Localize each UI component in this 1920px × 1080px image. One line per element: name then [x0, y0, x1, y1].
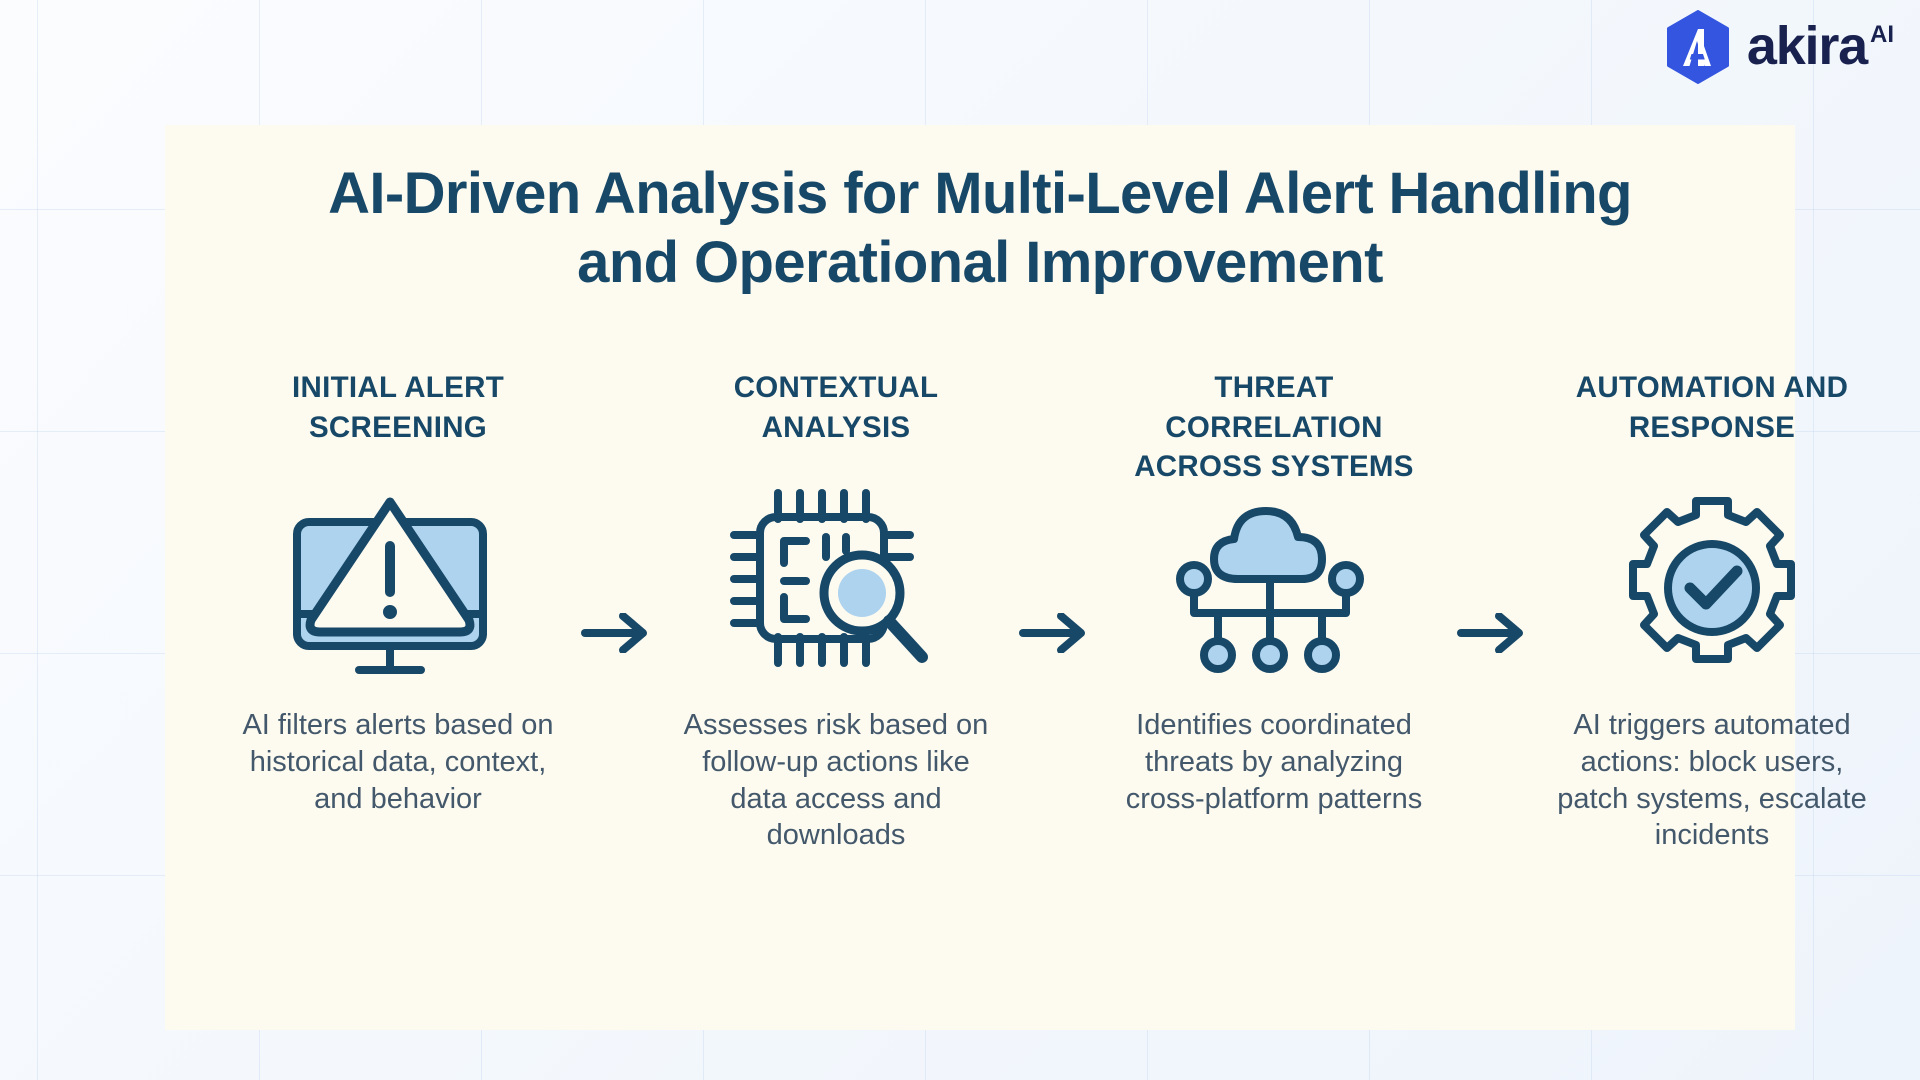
akira-hexagon-logo-icon [1663, 10, 1733, 84]
step-automation-and-response: AUTOMATION AND RESPONSE AI triggers auto… [1531, 368, 1893, 854]
step-description: Assesses risk based on follow-up actions… [655, 695, 1017, 854]
brand-name: akira [1747, 21, 1867, 72]
step-threat-correlation: THREAT CORRELATION ACROSS SYSTEMS [1093, 368, 1455, 817]
step-description: Identifies coordinated threats by analyz… [1093, 695, 1455, 817]
cpu-chip-magnifier-icon [726, 480, 946, 695]
monitor-alert-icon [283, 480, 513, 695]
step-description: AI filters alerts based on historical da… [217, 695, 579, 817]
step-initial-alert-screening: INITIAL ALERT SCREENING [217, 368, 579, 817]
page-title: AI-Driven Analysis for Multi-Level Alert… [165, 125, 1795, 297]
arrow-right-icon [579, 613, 655, 653]
brand-logo: akira AI [1663, 10, 1894, 84]
brand-superscript: AI [1870, 23, 1894, 47]
step-heading: CONTEXTUAL ANALYSIS [655, 368, 1017, 488]
process-flow: INITIAL ALERT SCREENING [217, 368, 1743, 854]
step-contextual-analysis: CONTEXTUAL ANALYSIS [655, 368, 1017, 854]
page-background: akira AI AI-Driven Analysis for Multi-Le… [0, 0, 1920, 1080]
cloud-network-nodes-icon [1174, 480, 1374, 695]
step-heading: INITIAL ALERT SCREENING [217, 368, 579, 488]
brand-wordmark: akira AI [1747, 21, 1894, 72]
gear-checkmark-icon [1617, 480, 1807, 695]
step-description: AI triggers automated actions: block use… [1531, 695, 1893, 854]
arrow-right-icon [1455, 613, 1531, 653]
step-heading: THREAT CORRELATION ACROSS SYSTEMS [1093, 368, 1455, 488]
arrow-right-icon [1017, 613, 1093, 653]
step-heading: AUTOMATION AND RESPONSE [1531, 368, 1893, 488]
content-card: AI-Driven Analysis for Multi-Level Alert… [165, 125, 1795, 1030]
